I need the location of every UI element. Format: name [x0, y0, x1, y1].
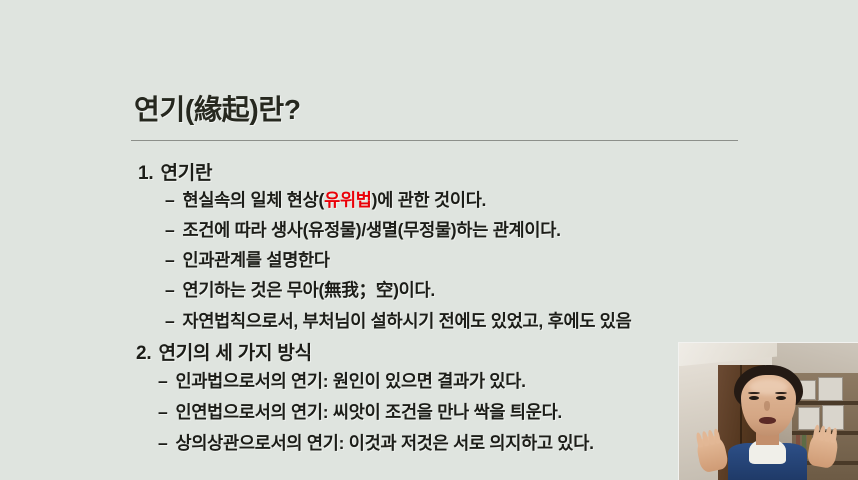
- section-number: 1.: [138, 163, 153, 185]
- bullet-dash: –: [158, 402, 167, 423]
- presenter-eye-left: [749, 396, 759, 400]
- item-text-before: 현실속의 일체 현상(: [182, 190, 324, 210]
- item-text-after: )에 관한 것이다.: [372, 190, 487, 210]
- outline-item: –인연법으로서의 연기: 씨앗이 조건을 만나 싹을 틔운다.: [158, 399, 562, 424]
- outline-item: –연기하는 것은 무아(無我；空)이다.: [165, 277, 435, 302]
- outline-section-1: 1.연기란: [138, 158, 212, 185]
- outline-item: –조건에 따라 생사(유정물)/생멸(무정물)하는 관계이다.: [165, 217, 561, 242]
- bullet-dash: –: [165, 250, 174, 271]
- presenter-video-overlay[interactable]: [678, 342, 858, 480]
- bullet-dash: –: [165, 190, 174, 211]
- shelf-frame: [822, 405, 844, 429]
- presenter-eye-right: [776, 396, 786, 400]
- item-text: 조건에 따라 생사(유정물)/생멸(무정물)하는 관계이다.: [182, 220, 560, 240]
- outline-section-2: 2.연기의 세 가지 방식: [136, 338, 312, 365]
- item-text: 인과관계를 설명한다: [182, 250, 329, 270]
- presenter-figure: [715, 365, 822, 480]
- presenter-nose: [764, 401, 770, 411]
- bullet-dash: –: [165, 220, 174, 241]
- item-text: 상의상관으로서의 연기: 이것과 저것은 서로 의지하고 있다.: [175, 433, 593, 453]
- outline-item: –인과법으로서의 연기: 원인이 있으면 결과가 있다.: [158, 368, 526, 393]
- item-text: 인과법으로서의 연기: 원인이 있으면 결과가 있다.: [175, 371, 525, 391]
- outline-item: –자연법칙으로서, 부처님이 설하시기 전에도 있었고, 후에도 있음: [165, 308, 631, 333]
- section-heading: 연기의 세 가지 방식: [158, 343, 311, 364]
- bullet-dash: –: [165, 311, 174, 332]
- outline-item: –현실속의 일체 현상(유위법)에 관한 것이다.: [165, 187, 486, 212]
- section-number: 2.: [136, 343, 151, 365]
- bullet-dash: –: [158, 433, 167, 454]
- bullet-dash: –: [158, 371, 167, 392]
- emphasis-text: 유위법: [324, 190, 372, 210]
- slide-canvas: 연기(緣起)란? 1.연기란 –현실속의 일체 현상(유위법)에 관한 것이다.…: [0, 0, 858, 480]
- section-heading: 연기란: [160, 163, 212, 184]
- outline-item: –인과관계를 설명한다: [165, 247, 330, 272]
- item-text: 연기하는 것은 무아(無我；空)이다.: [182, 280, 435, 300]
- presenter-mouth: [759, 417, 776, 424]
- item-text: 인연법으로서의 연기: 씨앗이 조건을 만나 싹을 틔운다.: [175, 402, 562, 422]
- bullet-dash: –: [165, 280, 174, 301]
- item-text: 자연법칙으로서, 부처님이 설하시기 전에도 있었고, 후에도 있음: [182, 311, 631, 331]
- outline-item: –상의상관으로서의 연기: 이것과 저것은 서로 의지하고 있다.: [158, 430, 594, 455]
